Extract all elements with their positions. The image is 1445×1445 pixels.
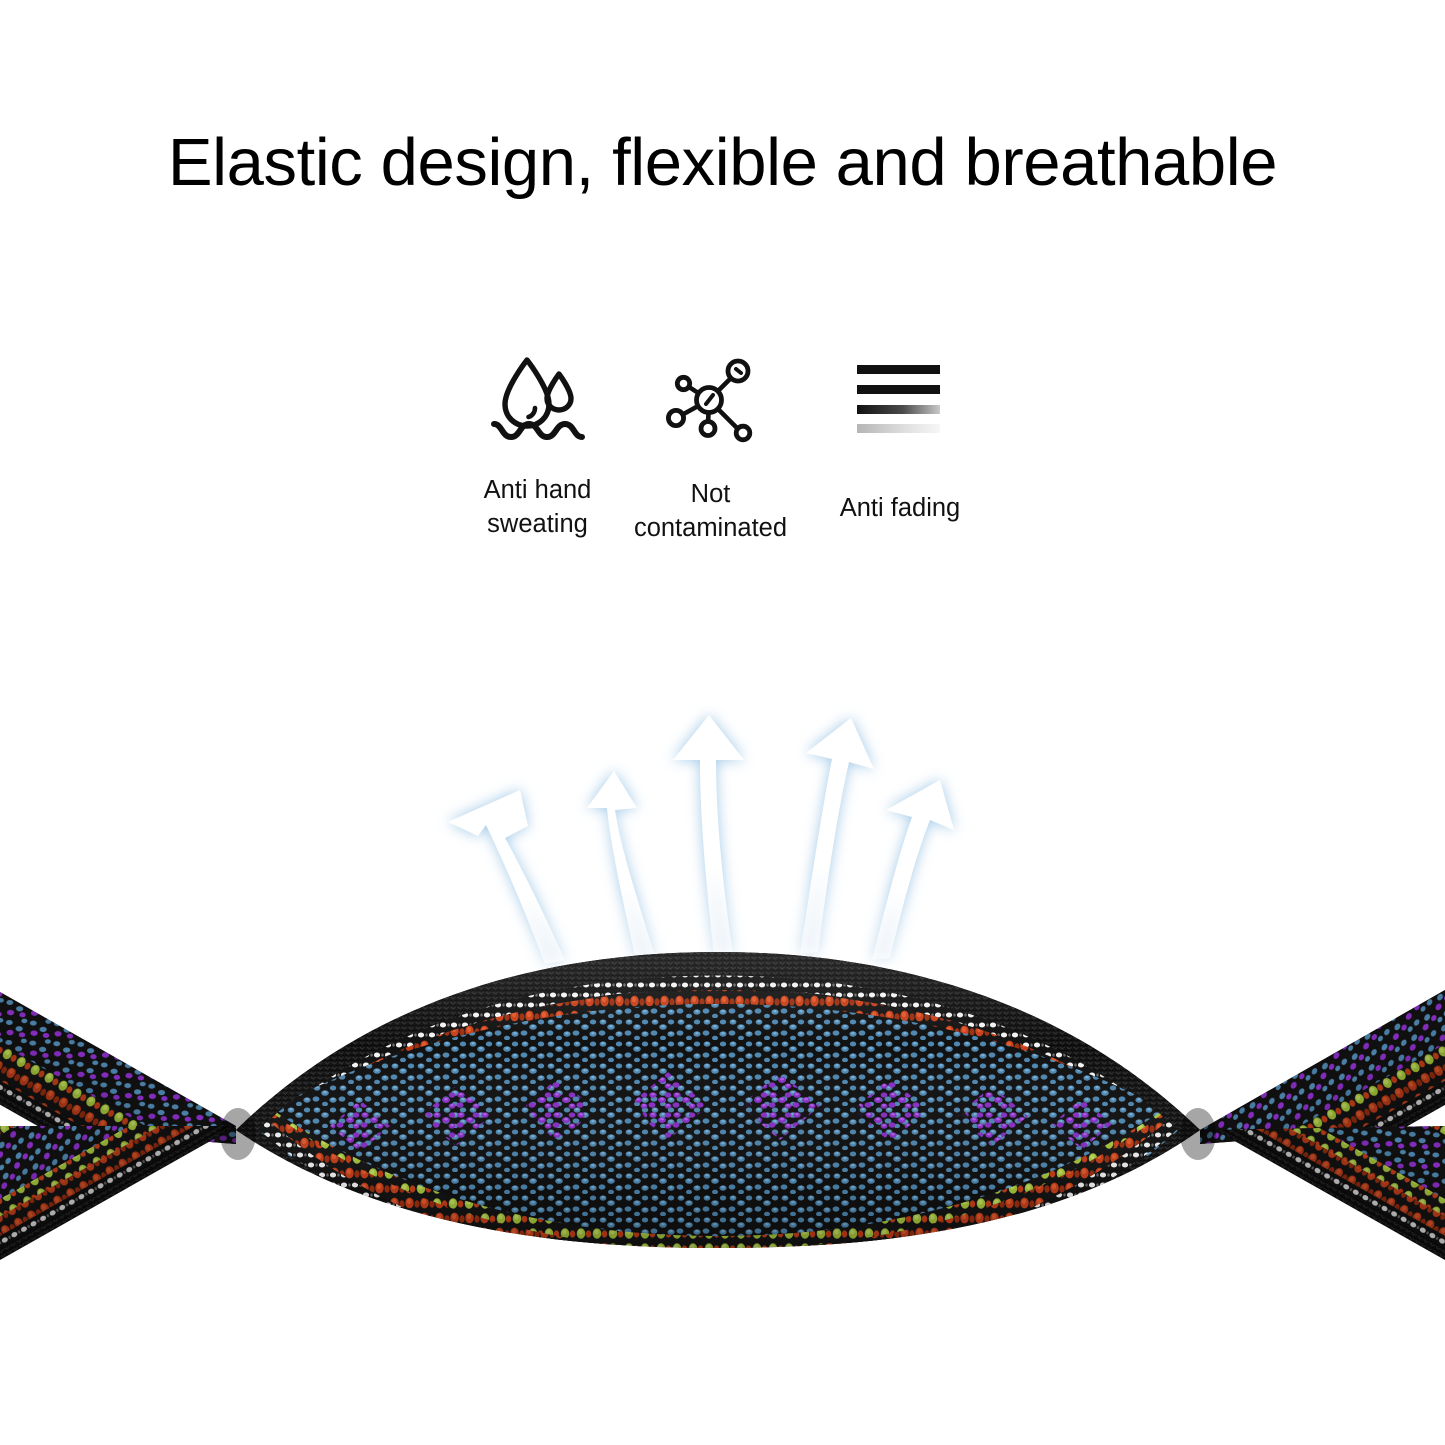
feature-label-line1: Anti fading <box>840 494 961 522</box>
feature-item-anti-fading: Anti fading <box>805 352 995 526</box>
product-feature-image: Elastic design, flexible and breathable <box>0 0 1445 1445</box>
airflow-arrow-3 <box>673 715 744 956</box>
airflow-arrow-4 <box>800 718 874 954</box>
feature-list: Anti hand sweating <box>455 352 995 552</box>
feature-label-not-contaminated: Not contaminated <box>618 478 803 545</box>
feature-label-line2: contaminated <box>634 514 787 542</box>
woven-band <box>0 930 1445 1260</box>
feature-item-not-contaminated: Not contaminated <box>618 352 803 545</box>
feature-label-anti-fading: Anti fading <box>805 492 995 526</box>
feature-label-line1: Not <box>691 480 731 508</box>
page-title: Elastic design, flexible and breathable <box>0 128 1445 198</box>
feature-item-anti-hand-sweating: Anti hand sweating <box>455 352 620 541</box>
molecule-network-icon <box>656 352 766 452</box>
band-segment-center <box>220 930 1220 1260</box>
fading-bars-icon <box>845 352 955 452</box>
water-drop-waves-icon <box>483 352 593 452</box>
feature-label-line2: sweating <box>487 510 588 538</box>
feature-label-line1: Anti hand <box>484 476 592 504</box>
feature-label-anti-hand-sweating: Anti hand sweating <box>455 474 620 541</box>
